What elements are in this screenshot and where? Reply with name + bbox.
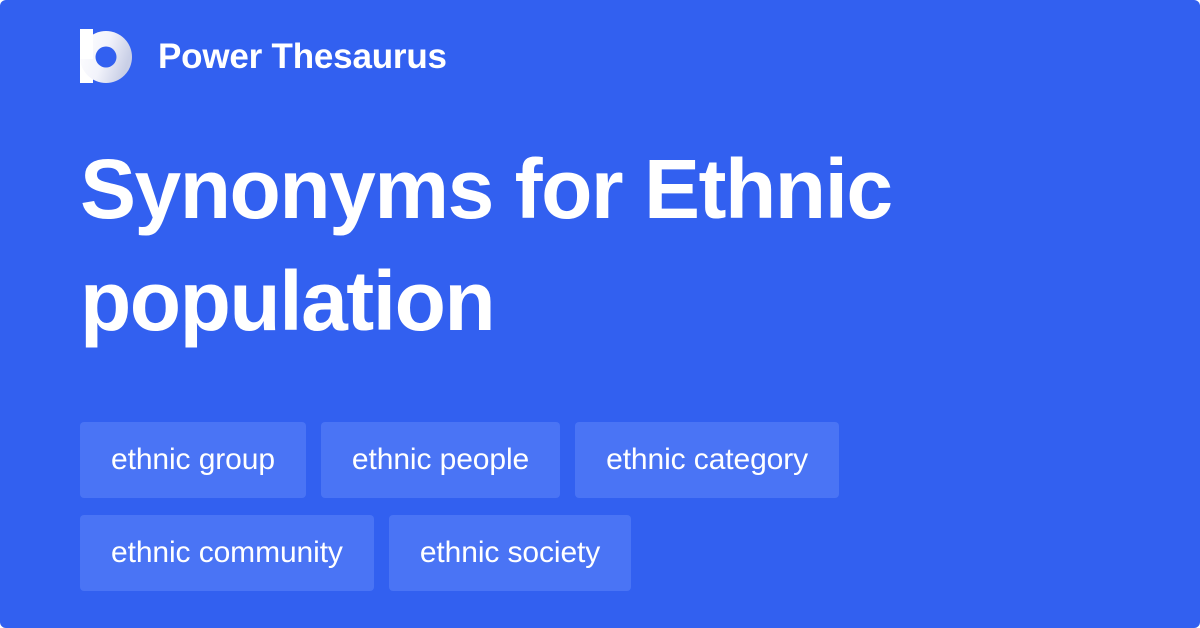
synonyms-share-card: Power Thesaurus Synonyms for Ethnic popu… [0,0,1200,628]
brand-name: Power Thesaurus [158,39,447,74]
synonym-tag-row: ethnic community ethnic society [80,515,1120,591]
page-title: Synonyms for Ethnic population [80,134,1100,357]
power-thesaurus-b-logo-icon [80,29,132,83]
synonym-tag[interactable]: ethnic group [80,422,306,498]
synonym-tag[interactable]: ethnic people [321,422,560,498]
synonym-tag[interactable]: ethnic society [389,515,631,591]
synonym-tag-list: ethnic group ethnic people ethnic catego… [80,422,1120,591]
brand-header[interactable]: Power Thesaurus [80,28,447,84]
synonym-tag-row: ethnic group ethnic people ethnic catego… [80,422,1120,498]
synonym-tag[interactable]: ethnic category [575,422,839,498]
synonym-tag[interactable]: ethnic community [80,515,374,591]
